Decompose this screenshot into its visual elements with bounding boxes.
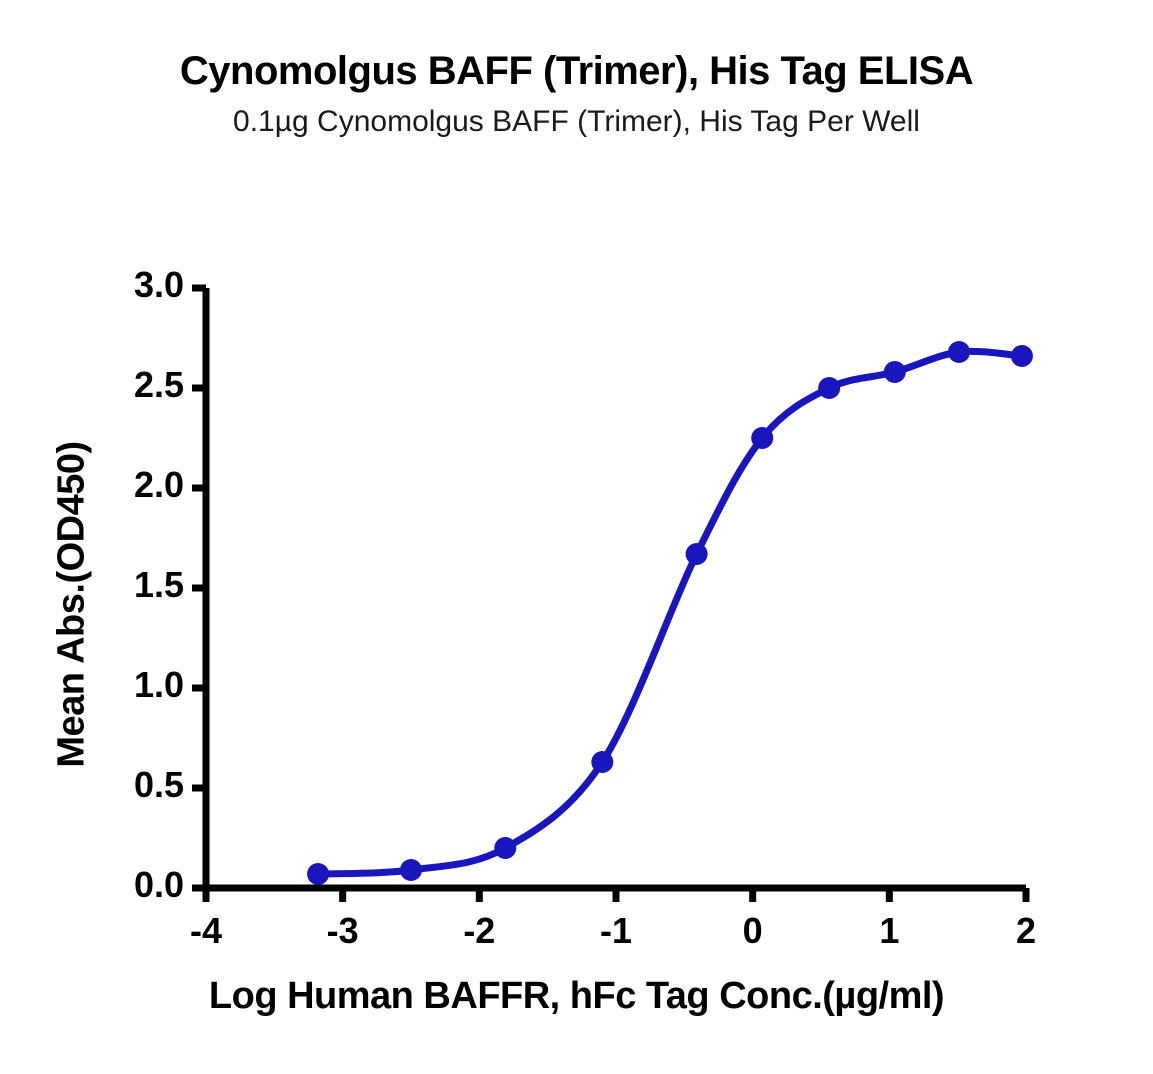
- data-point: [400, 859, 422, 881]
- x-tick-label: -1: [576, 910, 656, 952]
- x-tick-label: 2: [986, 910, 1066, 952]
- x-tick-label: -4: [166, 910, 246, 952]
- data-point: [948, 341, 970, 363]
- data-point: [591, 751, 613, 773]
- y-tick-label: 3.0: [64, 264, 184, 306]
- data-point: [884, 361, 906, 383]
- data-point: [494, 837, 516, 859]
- data-point: [818, 377, 840, 399]
- data-point: [1011, 345, 1033, 367]
- x-tick-label: -3: [303, 910, 383, 952]
- x-tick-label: 0: [713, 910, 793, 952]
- data-point: [686, 543, 708, 565]
- x-tick-label: 1: [849, 910, 929, 952]
- x-axis-label: Log Human BAFFR, hFc Tag Conc.(µg/ml): [0, 975, 1153, 1018]
- data-point: [307, 863, 329, 885]
- elisa-chart-figure: Cynomolgus BAFF (Trimer), His Tag ELISA …: [0, 0, 1153, 1074]
- data-point: [751, 427, 773, 449]
- x-tick-label: -2: [439, 910, 519, 952]
- data-curve-group: [318, 351, 1022, 874]
- y-axis-label: Mean Abs.(OD450): [51, 305, 94, 905]
